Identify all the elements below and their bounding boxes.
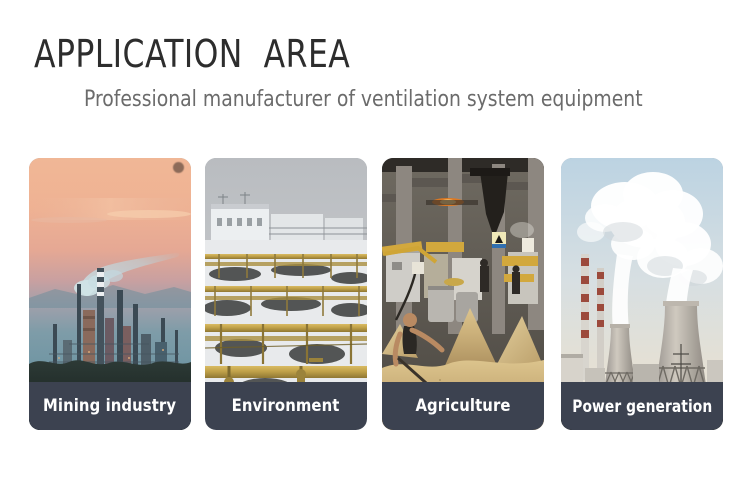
card-label-text: Mining industry xyxy=(43,396,176,416)
card-mining-industry[interactable]: Mining industry xyxy=(29,158,191,430)
card-label-text: Agriculture xyxy=(415,396,510,416)
card-environment[interactable]: Environment xyxy=(205,158,367,430)
card-label-mining-industry[interactable]: Mining industry xyxy=(29,382,191,430)
card-label-environment[interactable]: Environment xyxy=(205,382,367,430)
card-label-agriculture[interactable]: Agriculture xyxy=(382,382,544,430)
card-label-power-generation[interactable]: Power generation xyxy=(561,382,723,430)
page-header: APPLICATION AREA Professional manufactur… xyxy=(0,0,750,150)
card-agriculture[interactable]: Agriculture xyxy=(382,158,544,430)
card-label-text: Power generation xyxy=(572,397,712,416)
page-subtitle: Professional manufacturer of ventilation… xyxy=(84,86,643,114)
watermark-logo-icon xyxy=(173,162,184,173)
card-label-text: Environment xyxy=(232,396,340,416)
application-area-card-grid: Mining industry xyxy=(0,158,750,430)
page-title: APPLICATION AREA xyxy=(34,32,350,76)
card-power-generation[interactable]: Power generation xyxy=(561,158,723,430)
